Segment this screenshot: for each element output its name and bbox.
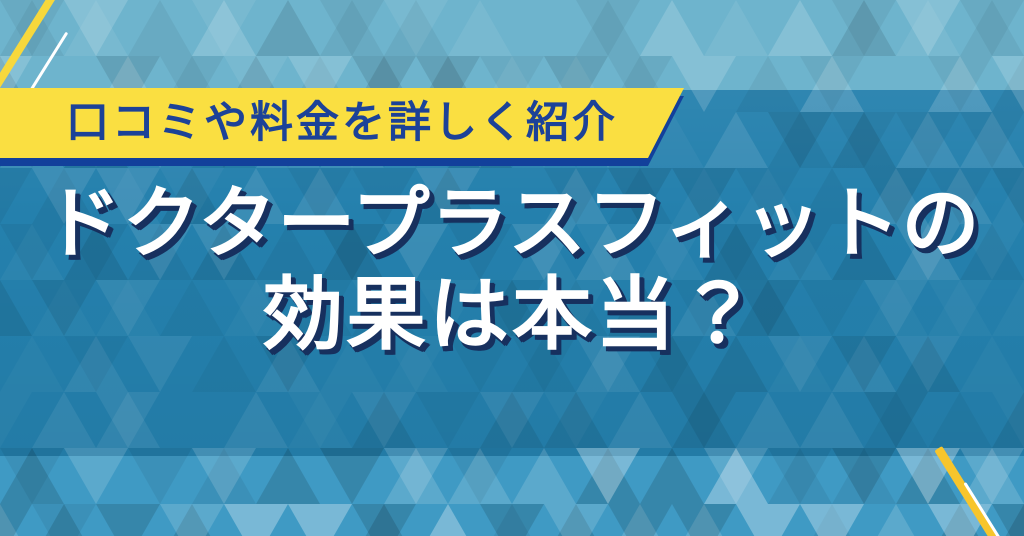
eyecatch-banner: 口コミや料金を詳しく紹介 ドクタープラスフィットの 効果は本当？ [0,0,1024,536]
ribbon-label: 口コミや料金を詳しく紹介 [66,102,618,145]
headline-line-2: 効果は本当？ [0,273,1024,358]
ribbon-shape: 口コミや料金を詳しく紹介 [0,88,700,158]
ribbon-banner: 口コミや料金を詳しく紹介 [0,88,700,168]
headline: ドクタープラスフィットの 効果は本当？ [0,182,1024,357]
headline-line-1: ドクタープラスフィットの [0,182,1024,265]
